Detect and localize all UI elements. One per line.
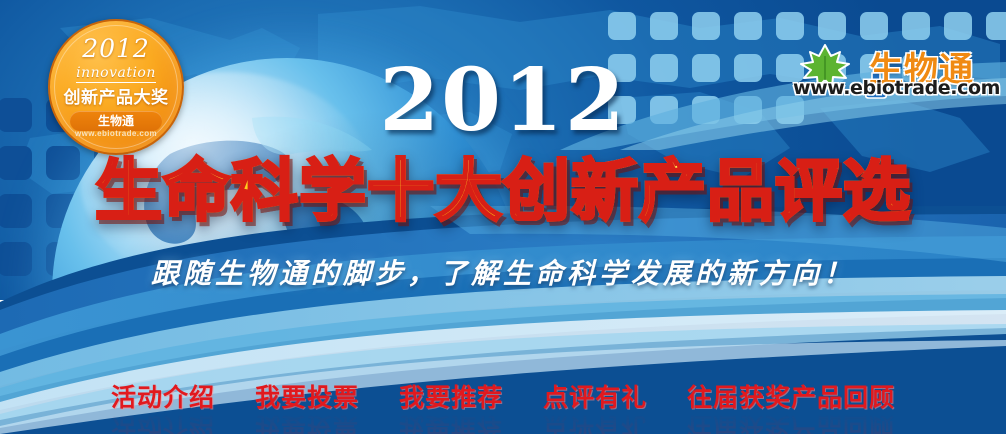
banner-headline: 生命科学十大创新产品评选 [0,158,1006,225]
banner-year: 2012 [0,58,1006,144]
nav-item-past-winners[interactable]: 往届获奖产品回顾 [687,386,895,411]
promo-banner: 2012 innovation 创新产品大奖 生物通 www.ebiotrade… [0,0,1006,434]
banner-tagline: 跟随生物通的脚步，了解生命科学发展的新方向！ [0,252,1006,292]
nav-item-activity-intro[interactable]: 活动介绍 [111,386,215,411]
banner-nav: 活动介绍 我要投票 我要推荐 点评有礼 往届获奖产品回顾 [0,386,1006,411]
nav-item-review-gift[interactable]: 点评有礼 [543,386,647,411]
nav-item-recommend[interactable]: 我要推荐 [399,386,503,411]
nav-item-vote[interactable]: 我要投票 [255,386,359,411]
